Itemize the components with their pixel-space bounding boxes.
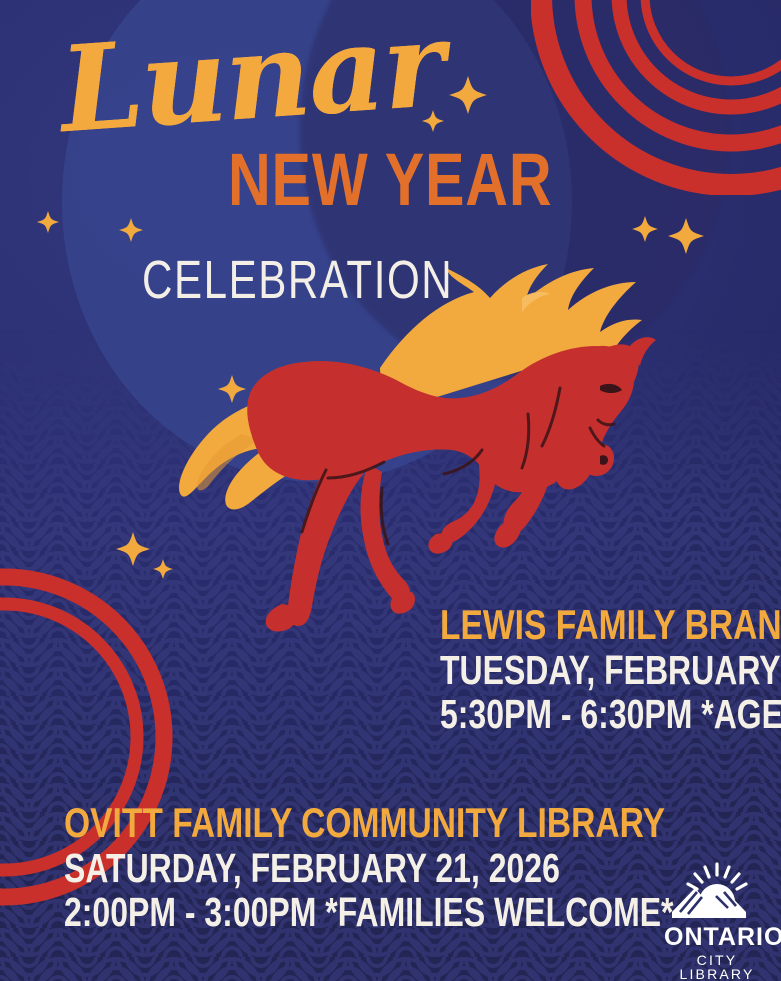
event-time: 2:00PM - 3:00PM *FAMILIES WELCOME* <box>64 890 673 934</box>
sun-over-mountains-icon <box>664 862 770 918</box>
lunar-new-year-poster: Lunar NEW YEAR CELEBRATION LEWIS FAMILY … <box>0 0 781 981</box>
event-lewis-family-branch: LEWIS FAMILY BRANCH TUESDAY, FEBRUARY 17… <box>440 603 781 736</box>
event-time: 5:30PM - 6:30PM *AGES 5-12* <box>440 692 781 736</box>
title-celebration: CELEBRATION <box>142 253 453 307</box>
sparkle-star <box>668 218 704 254</box>
logo-subtitle: CITY LIBRARY <box>664 953 770 981</box>
logo-name: ONTARIO <box>664 925 770 950</box>
ontario-city-library-logo: ONTARIO CITY LIBRARY <box>664 862 770 962</box>
sparkle-star <box>37 211 59 233</box>
title-lunar: Lunar <box>56 5 446 149</box>
event-venue: OVITT FAMILY COMMUNITY LIBRARY <box>64 801 689 846</box>
event-date: SATURDAY, FEBRUARY 21, 2026 <box>64 846 673 890</box>
event-venue: LEWIS FAMILY BRANCH <box>440 603 781 648</box>
event-date: TUESDAY, FEBRUARY 17, 2026 <box>440 648 781 692</box>
sparkle-star <box>449 76 487 114</box>
title-new-year: NEW YEAR <box>228 143 552 217</box>
